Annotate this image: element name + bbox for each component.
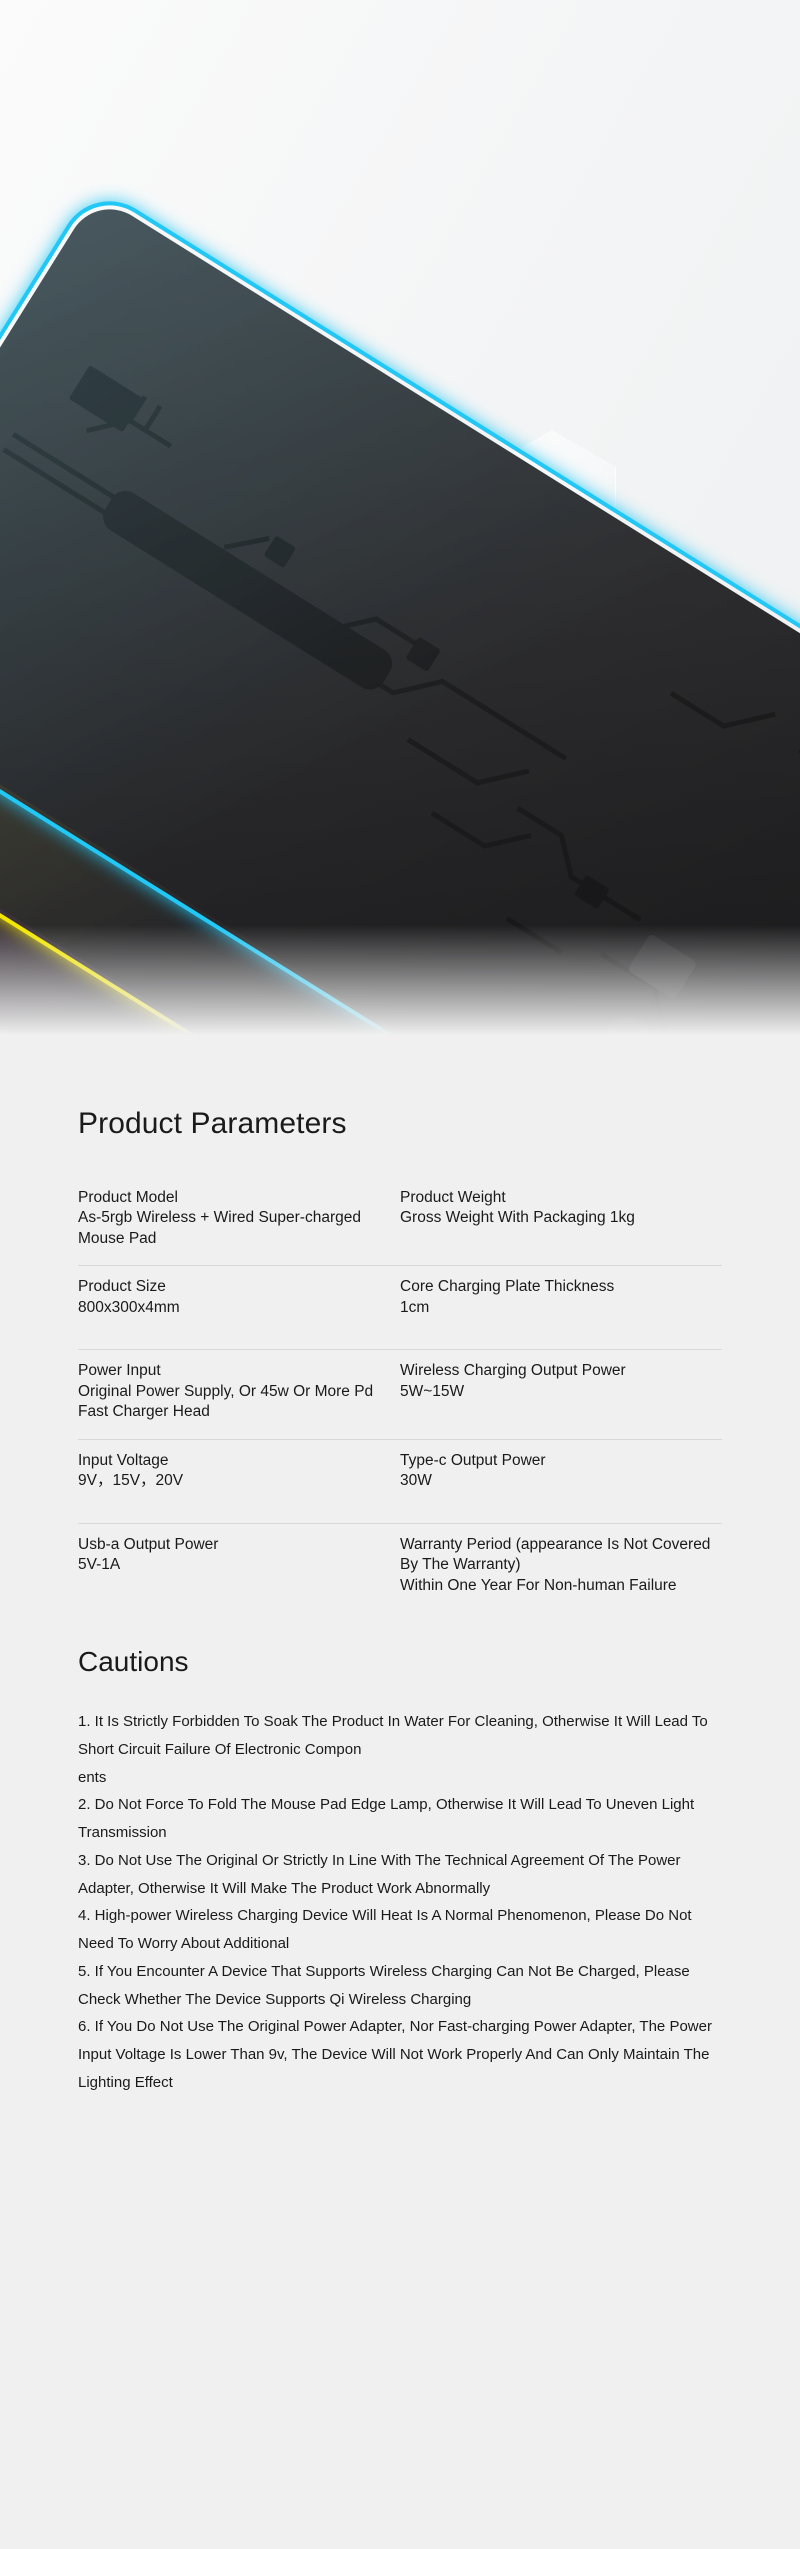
parameter-cell-right: Warranty Period (appearance Is Not Cover… (400, 1535, 722, 1596)
parameter-label: Wireless Charging Output Power (400, 1361, 722, 1381)
parameter-value: 9V，15V，20V (78, 1471, 386, 1491)
parameter-label: Input Voltage (78, 1451, 386, 1471)
parameter-label: Core Charging Plate Thickness (400, 1277, 722, 1297)
hero-product-image (0, 0, 800, 1045)
list-item: 4. High-power Wireless Charging Device W… (78, 1902, 722, 1958)
cautions-title: Cautions (78, 1646, 722, 1678)
parameter-value: Original Power Supply, Or 45w Or More Pd… (78, 1382, 386, 1423)
table-row: Product Model As-5rgb Wireless + Wired S… (78, 1177, 722, 1266)
table-row: Product Size 800x300x4mm Core Charging P… (78, 1266, 722, 1350)
parameter-cell-right: Wireless Charging Output Power 5W~15W (400, 1361, 722, 1402)
parameter-label: Usb-a Output Power (78, 1535, 386, 1555)
parameter-cell-left: Power Input Original Power Supply, Or 45… (78, 1361, 400, 1422)
parameter-cell-right: Product Weight Gross Weight With Packagi… (400, 1188, 722, 1229)
parameter-label: Product Weight (400, 1188, 722, 1208)
parameter-value: Within One Year For Non-human Failure (400, 1576, 722, 1596)
parameter-label: Type-c Output Power (400, 1451, 722, 1471)
parameter-value: As-5rgb Wireless + Wired Super-charged M… (78, 1208, 386, 1249)
parameter-cell-left: Product Size 800x300x4mm (78, 1277, 400, 1318)
parameter-label: Power Input (78, 1361, 386, 1381)
parameter-value: 5W~15W (400, 1382, 722, 1402)
cautions-section: Cautions 1. It Is Strictly Forbidden To … (0, 1612, 800, 2157)
table-row: Power Input Original Power Supply, Or 45… (78, 1350, 722, 1439)
list-item: 5. If You Encounter A Device That Suppor… (78, 1958, 722, 2014)
parameter-cell-right: Type-c Output Power 30W (400, 1451, 722, 1492)
page-title: Product Parameters (0, 1107, 800, 1141)
list-item: 6. If You Do Not Use The Original Power … (78, 2013, 722, 2096)
parameter-cell-right: Core Charging Plate Thickness 1cm (400, 1277, 722, 1318)
parameter-cell-left: Usb-a Output Power 5V-1A (78, 1535, 400, 1576)
list-item: 2. Do Not Force To Fold The Mouse Pad Ed… (78, 1791, 722, 1847)
parameter-value: 1cm (400, 1298, 722, 1318)
parameter-label: Warranty Period (appearance Is Not Cover… (400, 1535, 722, 1576)
product-parameters-section: Product Parameters Product Model As-5rgb… (0, 1045, 800, 1612)
list-item: 3. Do Not Use The Original Or Strictly I… (78, 1847, 722, 1903)
parameter-cell-left: Product Model As-5rgb Wireless + Wired S… (78, 1188, 400, 1249)
parameter-label: Product Size (78, 1277, 386, 1297)
parameter-value: 5V-1A (78, 1555, 386, 1575)
table-row: Usb-a Output Power 5V-1A Warranty Period… (78, 1524, 722, 1612)
parameters-table: Product Model As-5rgb Wireless + Wired S… (0, 1177, 800, 1612)
table-row: Input Voltage 9V，15V，20V Type-c Output P… (78, 1440, 722, 1524)
list-item: 1. It Is Strictly Forbidden To Soak The … (78, 1708, 722, 1791)
parameter-value: 30W (400, 1471, 722, 1491)
parameter-cell-left: Input Voltage 9V，15V，20V (78, 1451, 400, 1492)
parameter-value: 800x300x4mm (78, 1298, 386, 1318)
parameter-label: Product Model (78, 1188, 386, 1208)
parameter-value: Gross Weight With Packaging 1kg (400, 1208, 722, 1228)
mouse-pad-stack (0, 0, 800, 1045)
